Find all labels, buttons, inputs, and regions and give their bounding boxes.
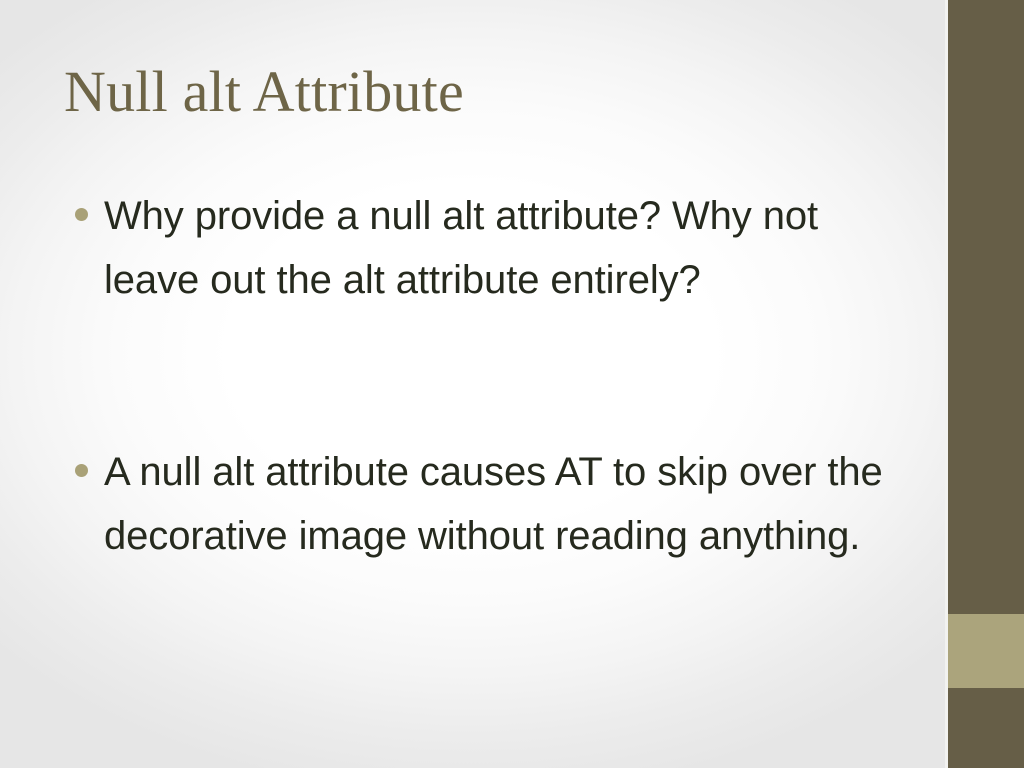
bullet-spacer	[66, 312, 906, 440]
right-band-accent-block	[948, 614, 1024, 688]
slide-canvas: Null alt Attribute Why provide a null al…	[0, 0, 1024, 768]
bullet-item-1-label: Why provide a null alt attribute? Why no…	[104, 184, 906, 312]
bullet-item-2: A null alt attribute causes AT to skip o…	[66, 440, 906, 568]
bullet-dot-icon	[75, 464, 88, 477]
bullet-dot-icon	[75, 208, 88, 221]
slide-title: Null alt Attribute	[64, 56, 904, 128]
slide-body: Why provide a null alt attribute? Why no…	[66, 184, 906, 568]
bullet-item-1: Why provide a null alt attribute? Why no…	[66, 184, 906, 312]
bullet-item-2-label: A null alt attribute causes AT to skip o…	[104, 440, 906, 568]
